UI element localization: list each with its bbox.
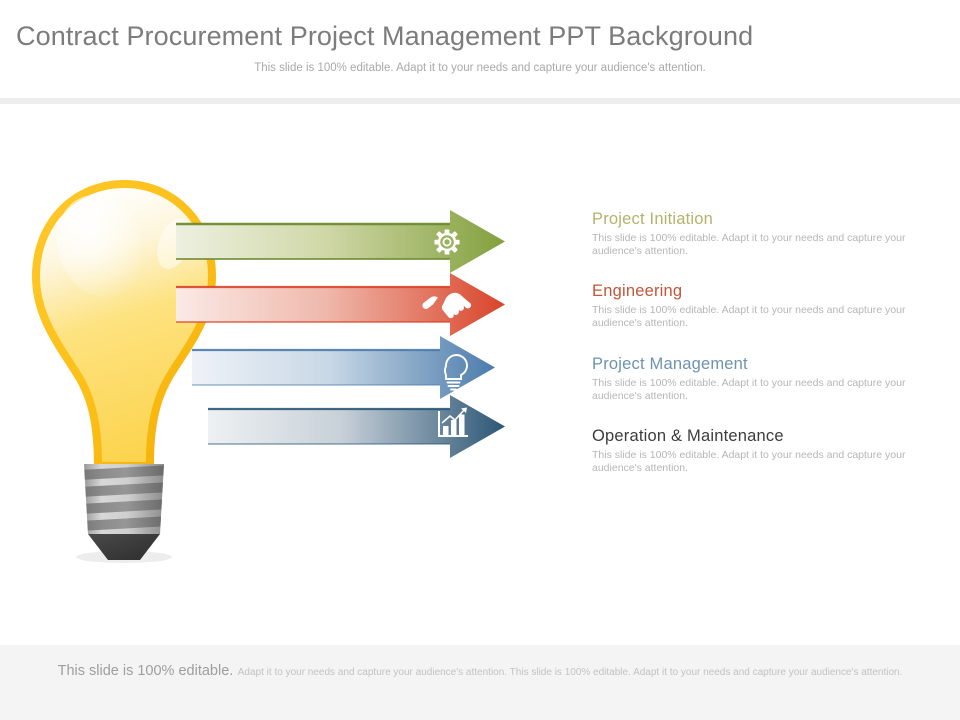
list-item-project-initiation: Project Initiation This slide is 100% ed… — [592, 210, 937, 257]
slide-header: Contract Procurement Project Management … — [0, 0, 960, 98]
item-title-project-initiation: Project Initiation — [592, 210, 937, 229]
footer-rest-text: Adapt it to your needs and capture your … — [238, 667, 903, 678]
item-desc-project-management: This slide is 100% editable. Adapt it to… — [592, 377, 930, 402]
slide: Contract Procurement Project Management … — [0, 0, 960, 720]
list-item-engineering: Engineering This slide is 100% editable.… — [592, 282, 937, 329]
arrow-project-management — [192, 336, 495, 399]
slide-footer: This slide is 100% editable. Adapt it to… — [0, 645, 960, 720]
slide-body: Project Initiation This slide is 100% ed… — [0, 104, 960, 644]
item-desc-operation-maintenance: This slide is 100% editable. Adapt it to… — [592, 449, 930, 474]
arrow-operation-maintenance — [208, 395, 505, 458]
arrow-project-initiation — [176, 210, 505, 273]
item-title-project-management: Project Management — [592, 355, 937, 374]
footer-lead-text: This slide is 100% editable. — [58, 663, 234, 679]
footer-text: This slide is 100% editable. Adapt it to… — [36, 663, 924, 681]
item-title-operation-maintenance: Operation & Maintenance — [592, 427, 937, 446]
item-desc-engineering: This slide is 100% editable. Adapt it to… — [592, 304, 930, 329]
list-item-project-management: Project Management This slide is 100% ed… — [592, 355, 937, 402]
list-item-operation-maintenance: Operation & Maintenance This slide is 10… — [592, 427, 937, 474]
item-title-engineering: Engineering — [592, 282, 937, 301]
page-subtitle: This slide is 100% editable. Adapt it to… — [0, 62, 960, 74]
arrow-engineering — [176, 273, 505, 336]
page-title: Contract Procurement Project Management … — [16, 21, 753, 52]
arrow-group — [150, 199, 570, 489]
item-desc-project-initiation: This slide is 100% editable. Adapt it to… — [592, 232, 930, 257]
